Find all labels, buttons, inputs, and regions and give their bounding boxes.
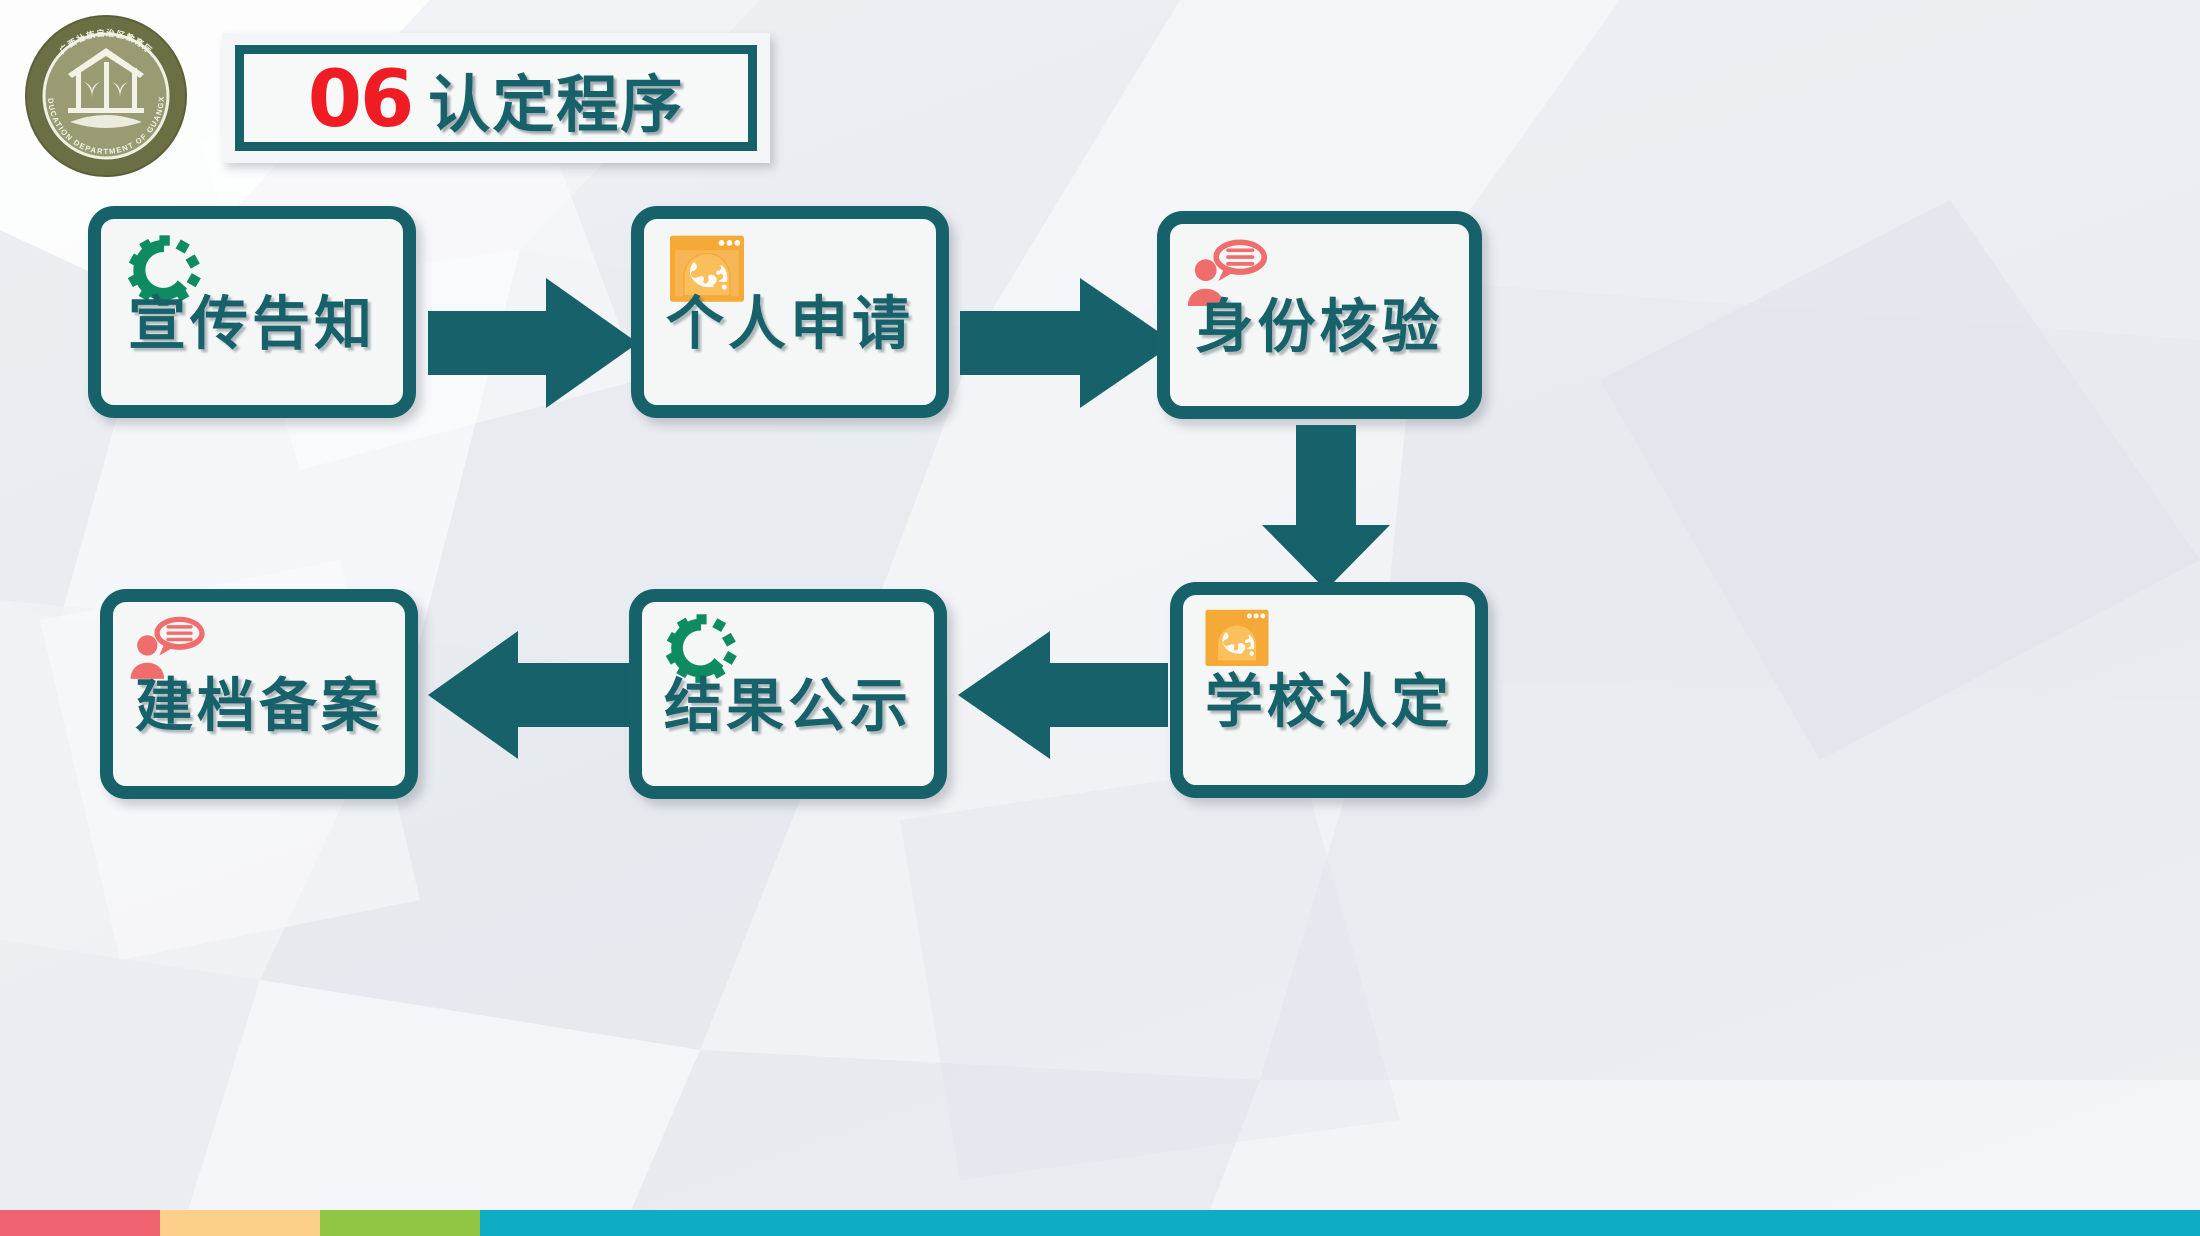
- process-box-5[interactable]: 结果公示: [629, 589, 947, 799]
- arrow-left-2: [428, 631, 633, 759]
- process-box-1-label: 宣传告知: [101, 277, 403, 361]
- process-box-6[interactable]: 建档备案: [100, 589, 418, 799]
- footer-segment-green: [320, 1210, 480, 1236]
- arrow-down-1: [1262, 425, 1390, 590]
- footer-color-bar: [0, 1210, 2200, 1236]
- footer-segment-coral: [0, 1210, 160, 1236]
- guangxi-education-seal-logo: 广西壮族自治区教育厅 EDUCATION DEPARTMENT OF GUANG…: [22, 12, 190, 180]
- process-box-3-label: 身份核验: [1170, 280, 1469, 364]
- page-title: 认定程序: [428, 75, 684, 137]
- arrow-right-2: [960, 278, 1175, 408]
- section-number: 06: [308, 61, 413, 139]
- process-box-6-label: 建档备案: [113, 659, 405, 743]
- section-title-row: 06 认定程序: [308, 61, 685, 139]
- section-title-inner-frame: 06 认定程序: [235, 45, 757, 151]
- process-box-2-label: 个人申请: [644, 277, 936, 361]
- process-box-3[interactable]: 身份核验: [1157, 211, 1482, 419]
- slide-canvas: 广西壮族自治区教育厅 EDUCATION DEPARTMENT OF GUANG…: [0, 0, 2200, 1236]
- process-box-4-label: 学校认定: [1183, 655, 1475, 739]
- arrow-left-1: [958, 631, 1168, 759]
- section-title-plate: 06 认定程序: [222, 33, 770, 163]
- process-box-2[interactable]: 个人申请: [631, 206, 949, 418]
- footer-segment-cyan: [480, 1210, 2200, 1236]
- footer-segment-peach: [160, 1210, 320, 1236]
- process-box-4[interactable]: 学校认定: [1170, 582, 1488, 798]
- process-box-5-label: 结果公示: [642, 659, 934, 743]
- process-box-1[interactable]: 宣传告知: [88, 206, 416, 418]
- arrow-right-1: [428, 278, 638, 408]
